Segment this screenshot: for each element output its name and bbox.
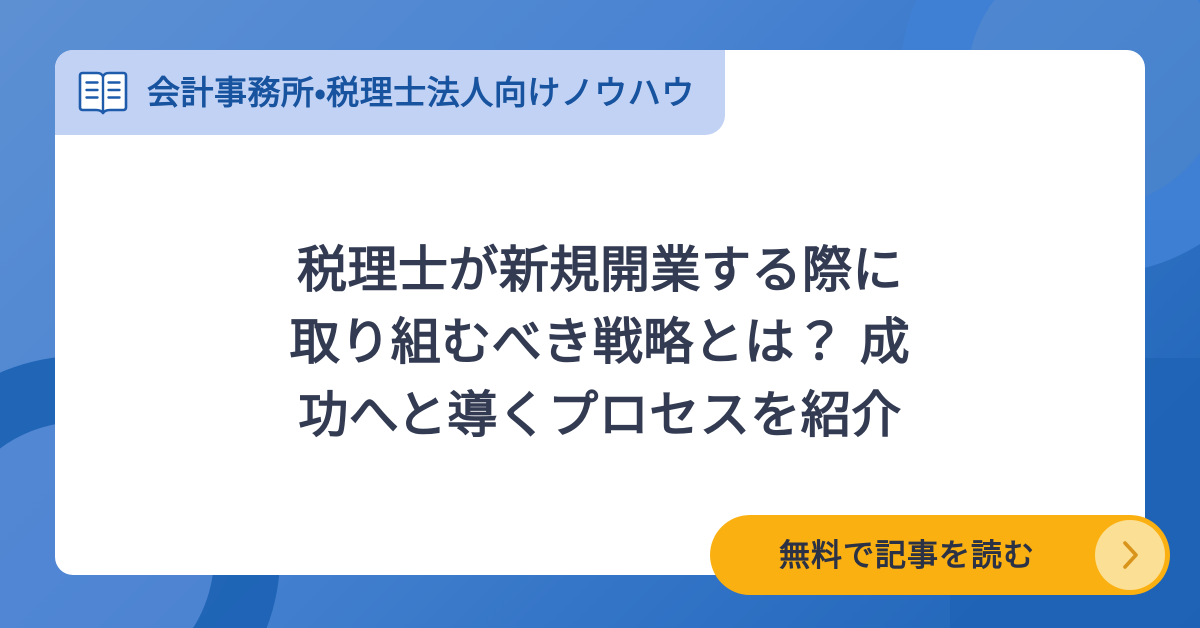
- page-title-line-1: 税理士が新規開業する際に: [115, 234, 1085, 307]
- chevron-right-icon: [1095, 520, 1165, 590]
- og-image-canvas: 会計事務所・税理士法人向けノウハウ 税理士が新規開業する際に 取り組むべき戦略と…: [0, 0, 1200, 628]
- content-card: 会計事務所・税理士法人向けノウハウ 税理士が新規開業する際に 取り組むべき戦略と…: [55, 50, 1145, 575]
- page-title-line-2: 取り組むべき戦略とは？ 成: [115, 306, 1085, 379]
- open-book-icon: [77, 70, 129, 116]
- category-badge: 会計事務所・税理士法人向けノウハウ: [55, 50, 725, 135]
- category-badge-label: 会計事務所・税理士法人向けノウハウ: [147, 76, 695, 109]
- page-title-line-3: 功へと導くプロセスを紹介: [115, 379, 1085, 452]
- read-article-button[interactable]: 無料で記事を読む: [710, 515, 1170, 595]
- read-article-button-label: 無料で記事を読む: [779, 540, 1035, 571]
- page-title: 税理士が新規開業する際に 取り組むべき戦略とは？ 成 功へと導くプロセスを紹介: [55, 234, 1145, 452]
